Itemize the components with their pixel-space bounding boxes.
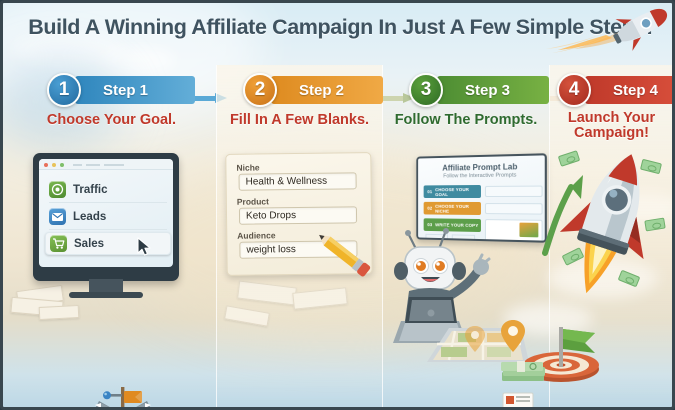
- infographic-poster: Build A Winning Affiliate Campaign In Ju…: [0, 0, 675, 410]
- lab-preview-thumb: [519, 223, 538, 238]
- title-rocket-icon: [544, 5, 674, 57]
- titlebar-line-2: [86, 164, 100, 166]
- step-4-caption: Launch Your Campaign!: [549, 111, 674, 141]
- lab-row-2[interactable]: 02 CHOOSE YOUR NICHE: [424, 202, 481, 215]
- monitor-stand: [89, 279, 123, 293]
- goal-option-sales-label: Sales: [74, 238, 104, 250]
- niche-field-value: Health & Wellness: [246, 176, 328, 188]
- shopping-cart-icon: [50, 235, 67, 252]
- goal-option-leads-label: Leads: [73, 211, 106, 223]
- titlebar-line-3: [104, 164, 124, 166]
- step-1-ribbon: Step 1: [75, 76, 195, 104]
- step-3-ribbon-label: Step 3: [465, 82, 510, 99]
- maximize-dot: [60, 163, 64, 167]
- monitor-base: [69, 292, 143, 298]
- goal-selector-monitor: Traffic Leads Sales: [33, 153, 179, 281]
- option-divider-1: [49, 202, 167, 203]
- niche-field-label: Niche: [236, 162, 259, 172]
- step-2-header: Step 2 2: [243, 73, 393, 107]
- step-2-badge: 2: [243, 73, 277, 107]
- minimize-dot: [52, 163, 56, 167]
- close-dot: [44, 163, 48, 167]
- step-1-badge: 1: [47, 73, 81, 107]
- step-1-ribbon-label: Step 1: [103, 82, 148, 99]
- lab-side-1: [485, 186, 543, 197]
- step-3-number: 3: [421, 79, 432, 101]
- step-4-badge: 4: [557, 73, 591, 107]
- title-bar: Build A Winning Affiliate Campaign In Ju…: [3, 3, 675, 59]
- step-3-ribbon: Step 3: [437, 76, 549, 104]
- step-1-header: Step 1 1: [47, 73, 202, 107]
- step-2-ribbon: Step 2: [271, 76, 383, 104]
- panel-step-2: Step 2 2 Fill In A Few Blanks. Niche Hea…: [216, 65, 383, 410]
- niche-field[interactable]: Health & Wellness: [239, 172, 357, 190]
- step-4-header: Step 4 4: [557, 73, 675, 107]
- window-titlebar: [39, 159, 173, 170]
- lab-row-1[interactable]: 01 CHOOSE YOUR GOAL: [424, 185, 481, 198]
- goal-option-traffic-label: Traffic: [73, 184, 108, 196]
- goal-option-leads[interactable]: Leads: [45, 205, 171, 228]
- step-3-badge: 3: [409, 73, 443, 107]
- lab-row-1-step: 01: [427, 189, 432, 194]
- step-3-header: Step 3 3: [409, 73, 559, 107]
- lab-row-2-label: CHOOSE YOUR NICHE: [435, 203, 481, 213]
- goal-option-traffic[interactable]: Traffic: [45, 178, 171, 201]
- step-2-number: 2: [255, 79, 266, 101]
- step-3-caption: Follow The Prompts.: [383, 113, 549, 128]
- step-1-caption: Choose Your Goal.: [7, 113, 216, 128]
- lab-row-2-step: 02: [427, 206, 432, 211]
- titlebar-line-1: [73, 164, 82, 166]
- target-icon: [49, 181, 66, 198]
- step-4-caption-line1: Launch Your: [549, 111, 674, 126]
- option-divider-2: [49, 229, 167, 230]
- lab-row-1-label: CHOOSE YOUR GOAL: [435, 186, 481, 196]
- product-field-value: Keto Drops: [246, 210, 296, 222]
- step-2-ribbon-label: Step 2: [299, 82, 344, 99]
- step-4-caption-line2: Campaign!: [549, 126, 674, 141]
- mouse-pointer-icon: [137, 237, 153, 257]
- lab-side-2: [485, 203, 543, 215]
- envelope-icon: [49, 208, 66, 225]
- step-2-caption: Fill In A Few Blanks.: [216, 113, 383, 128]
- road-fork-signpost: [85, 383, 161, 410]
- step-1-number: 1: [59, 79, 70, 101]
- panel-step-1: Step 1 1 Choose Your Goal.: [7, 65, 216, 410]
- audience-field-label: Audience: [237, 230, 275, 240]
- step-4-ribbon-label: Step 4: [613, 82, 658, 99]
- cash-stack: [500, 358, 548, 384]
- product-field-label: Product: [237, 196, 269, 206]
- product-field[interactable]: Keto Drops: [239, 206, 357, 224]
- lab-app-subtitle: Follow the Interactive Prompts: [418, 172, 545, 180]
- step-4-number: 4: [569, 79, 580, 101]
- step-4-ribbon: Step 4: [585, 76, 675, 104]
- lab-app-title: Affiliate Prompt Lab: [418, 162, 545, 173]
- pencil-icon: [316, 229, 378, 283]
- audience-field-value: weight loss: [246, 244, 296, 256]
